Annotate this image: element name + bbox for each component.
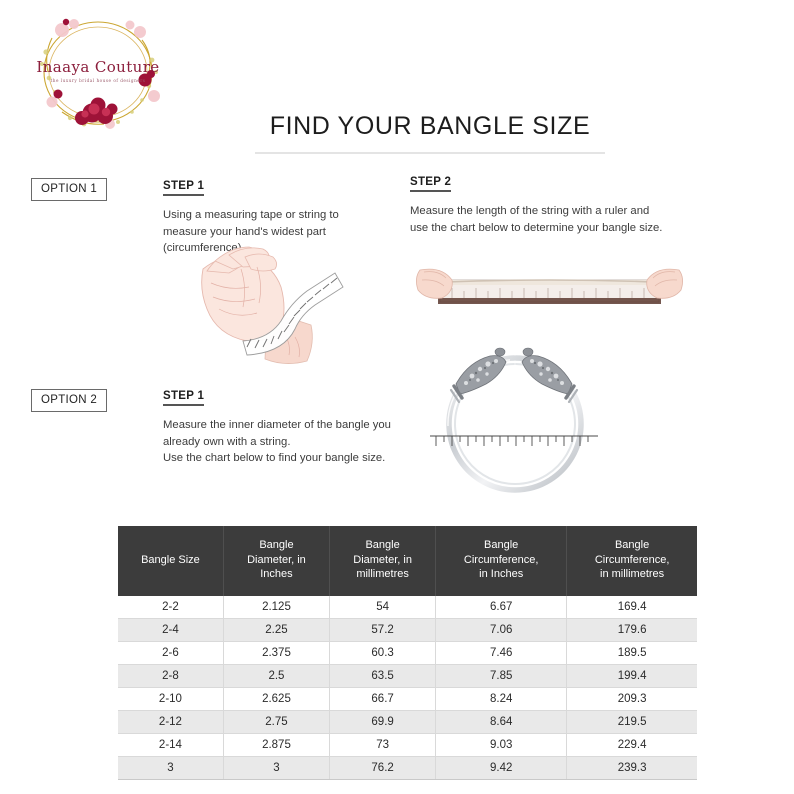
column-header-line: in millimetres [571, 567, 693, 582]
column-header-line: millimetres [334, 567, 431, 582]
table-row: 2-22.125546.67169.4 [118, 596, 697, 619]
cell-value: 219.5 [567, 711, 697, 734]
cell-value: 69.9 [330, 711, 436, 734]
column-header-bangle-size: Bangle Size [118, 526, 223, 596]
cell-value: 239.3 [567, 757, 697, 780]
cell-value: 9.42 [436, 757, 567, 780]
cell-value: 229.4 [567, 734, 697, 757]
cell-value: 73 [330, 734, 436, 757]
table-row: 2-122.7569.98.64219.5 [118, 711, 697, 734]
table-row: 2-142.875739.03229.4 [118, 734, 697, 757]
silver-bangle-with-ruler-illustration [428, 336, 600, 511]
cell-value: 8.24 [436, 688, 567, 711]
page-title: FIND YOUR BANGLE SIZE [255, 112, 605, 141]
step-heading: STEP 2 [410, 176, 451, 192]
cell-value: 2.5 [223, 665, 329, 688]
cell-bangle-size: 2-14 [118, 734, 223, 757]
table-row: 2-82.563.57.85199.4 [118, 665, 697, 688]
column-header-line: Bangle Size [122, 553, 219, 568]
cell-value: 199.4 [567, 665, 697, 688]
cell-value: 2.875 [223, 734, 329, 757]
column-header-line: Bangle [334, 538, 431, 553]
option-1-badge: OPTION 1 [31, 178, 107, 201]
cell-value: 76.2 [330, 757, 436, 780]
table-row: 2-42.2557.27.06179.6 [118, 619, 697, 642]
option-2-step-1: STEP 1 Measure the inner diameter of the… [163, 386, 408, 467]
cell-value: 7.46 [436, 642, 567, 665]
hand-with-measuring-tape-illustration [185, 243, 370, 371]
cell-value: 60.3 [330, 642, 436, 665]
cell-value: 209.3 [567, 688, 697, 711]
cell-bangle-size: 2-2 [118, 596, 223, 619]
column-header-circumference-mm: BangleCircumference,in millimetres [567, 526, 697, 596]
cell-value: 7.85 [436, 665, 567, 688]
table-row: 3376.29.42239.3 [118, 757, 697, 780]
cell-value: 6.67 [436, 596, 567, 619]
brand-tagline: the luxury bridal house of designers [51, 78, 146, 83]
table-row: 2-62.37560.37.46189.5 [118, 642, 697, 665]
page-header: FIND YOUR BANGLE SIZE [255, 112, 605, 154]
column-header-line: Inches [228, 567, 325, 582]
brand-name: Inaaya Couture [36, 58, 159, 76]
step-heading: STEP 1 [163, 390, 204, 406]
column-header-line: Diameter, in [334, 553, 431, 568]
table-body: 2-22.125546.67169.42-42.2557.27.06179.62… [118, 596, 697, 780]
cell-value: 189.5 [567, 642, 697, 665]
cell-value: 54 [330, 596, 436, 619]
cell-bangle-size: 2-12 [118, 711, 223, 734]
cell-bangle-size: 2-6 [118, 642, 223, 665]
cell-value: 9.03 [436, 734, 567, 757]
column-header-line: Circumference, [440, 553, 562, 568]
bangle-size-chart: Bangle Size BangleDiameter, inInches Ban… [118, 526, 697, 780]
cell-value: 57.2 [330, 619, 436, 642]
column-header-line: Bangle [571, 538, 693, 553]
cell-value: 7.06 [436, 619, 567, 642]
option-1-step-2: STEP 2 Measure the length of the string … [410, 172, 670, 236]
column-header-line: Bangle [228, 538, 325, 553]
column-header-circumference-inches: BangleCircumference,in Inches [436, 526, 567, 596]
option-2-badge: OPTION 2 [31, 389, 107, 412]
column-header-diameter-inches: BangleDiameter, inInches [223, 526, 329, 596]
step-body: Measure the inner diameter of the bangle… [163, 417, 408, 467]
hands-holding-ruler-photo [412, 252, 687, 324]
cell-value: 66.7 [330, 688, 436, 711]
cell-value: 8.64 [436, 711, 567, 734]
cell-value: 2.375 [223, 642, 329, 665]
cell-value: 63.5 [330, 665, 436, 688]
column-header-diameter-mm: BangleDiameter, inmillimetres [330, 526, 436, 596]
cell-value: 3 [223, 757, 329, 780]
cell-value: 2.125 [223, 596, 329, 619]
cell-value: 169.4 [567, 596, 697, 619]
step-heading: STEP 1 [163, 180, 204, 196]
brand-logo: Inaaya Couture the luxury bridal house o… [22, 8, 174, 136]
cell-bangle-size: 3 [118, 757, 223, 780]
table-row: 2-102.62566.78.24209.3 [118, 688, 697, 711]
column-header-line: Circumference, [571, 553, 693, 568]
cell-value: 2.25 [223, 619, 329, 642]
step-body: Measure the length of the string with a … [410, 203, 670, 236]
cell-bangle-size: 2-4 [118, 619, 223, 642]
column-header-line: Diameter, in [228, 553, 325, 568]
cell-value: 179.6 [567, 619, 697, 642]
cell-value: 2.625 [223, 688, 329, 711]
table-header-row: Bangle Size BangleDiameter, inInches Ban… [118, 526, 697, 596]
cell-value: 2.75 [223, 711, 329, 734]
column-header-line: in Inches [440, 567, 562, 582]
cell-bangle-size: 2-8 [118, 665, 223, 688]
column-header-line: Bangle [440, 538, 562, 553]
table-header: Bangle Size BangleDiameter, inInches Ban… [118, 526, 697, 596]
title-divider [255, 152, 605, 154]
cell-bangle-size: 2-10 [118, 688, 223, 711]
